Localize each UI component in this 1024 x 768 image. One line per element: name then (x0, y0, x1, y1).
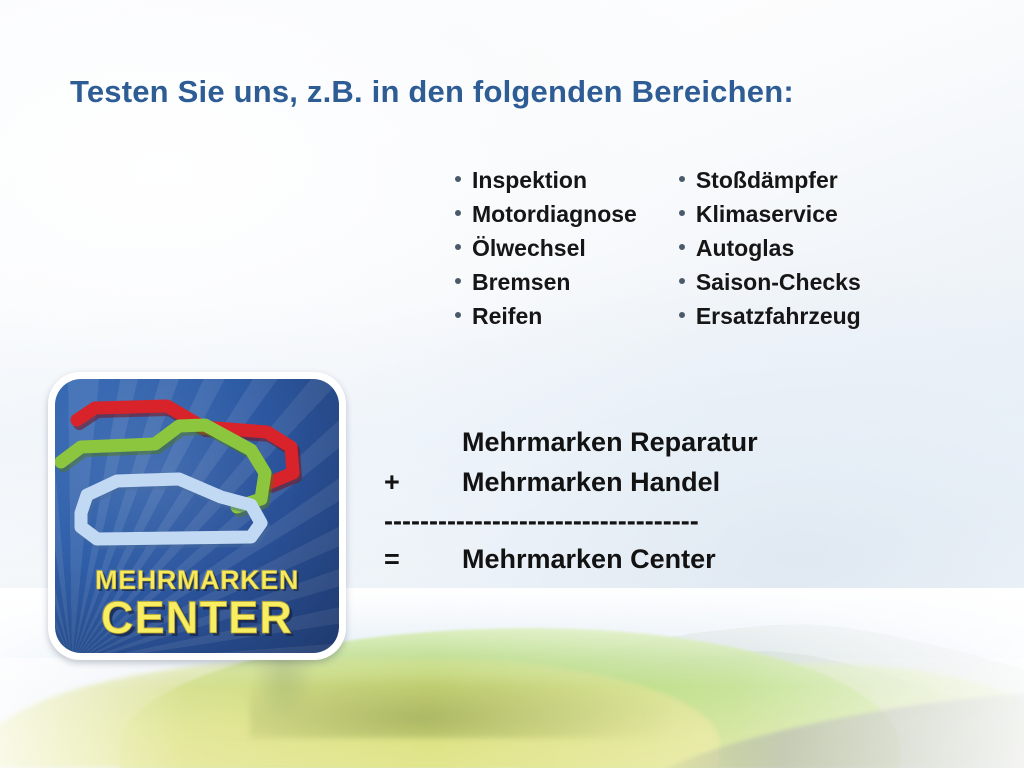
list-item: Saison-Checks (679, 265, 861, 299)
logo-word-top: MEHRMARKEN (55, 567, 339, 595)
list-item: Inspektion (455, 163, 637, 197)
slide-canvas: Testen Sie uns, z.B. in den folgenden Be… (0, 0, 1024, 768)
list-item-label: Ölwechsel (472, 231, 586, 265)
list-item-label: Stoßdämpfer (696, 163, 838, 197)
equation-text-2: Mehrmarken Handel (462, 467, 720, 498)
bullet-dot-icon (455, 312, 461, 318)
list-item-label: Saison-Checks (696, 265, 861, 299)
list-item: Bremsen (455, 265, 637, 299)
bullet-dot-icon (679, 244, 685, 250)
equation-text-1: Mehrmarken Reparatur (462, 427, 758, 458)
list-item: Autoglas (679, 231, 861, 265)
list-item-label: Klimaservice (696, 197, 838, 231)
bullet-dot-icon (679, 210, 685, 216)
bullet-dot-icon (455, 210, 461, 216)
list-item-label: Reifen (472, 299, 542, 333)
list-item-label: Inspektion (472, 163, 587, 197)
page-title: Testen Sie uns, z.B. in den folgenden Be… (70, 74, 794, 110)
services-column-left: Inspektion Motordiagnose Ölwechsel Brems… (455, 163, 637, 333)
services-lists: Inspektion Motordiagnose Ölwechsel Brems… (455, 163, 861, 333)
equation-operator-3: = (384, 544, 462, 575)
list-item-label: Bremsen (472, 265, 570, 299)
list-item: Motordiagnose (455, 197, 637, 231)
list-item: Klimaservice (679, 197, 861, 231)
logo-car-trio-icon (55, 387, 339, 559)
equation-row-1: Mehrmarken Reparatur (384, 427, 944, 458)
bullet-dot-icon (679, 312, 685, 318)
equation-row-2: + Mehrmarken Handel (384, 467, 944, 498)
equation-row-3: = Mehrmarken Center (384, 544, 944, 575)
equation-text-3: Mehrmarken Center (462, 544, 716, 575)
bullet-dot-icon (679, 278, 685, 284)
list-item-label: Ersatzfahrzeug (696, 299, 861, 333)
services-column-right: Stoßdämpfer Klimaservice Autoglas Saison… (679, 163, 861, 333)
list-item: Stoßdämpfer (679, 163, 861, 197)
bullet-dot-icon (455, 278, 461, 284)
logo-panel: MEHRMARKEN CENTER (55, 379, 339, 653)
logo-wordmark: MEHRMARKEN CENTER (55, 567, 339, 641)
list-item-label: Autoglas (696, 231, 794, 265)
list-item: Ölwechsel (455, 231, 637, 265)
list-item: Ersatzfahrzeug (679, 299, 861, 333)
equation-block: Mehrmarken Reparatur + Mehrmarken Handel… (384, 427, 944, 575)
equation-operator-2: + (384, 467, 462, 498)
list-item-label: Motordiagnose (472, 197, 637, 231)
bullet-dot-icon (455, 244, 461, 250)
equation-divider: ----------------------------------- (384, 502, 884, 540)
mehrmarken-center-logo: MEHRMARKEN CENTER (48, 372, 346, 660)
logo-word-bottom: CENTER (55, 595, 339, 641)
bullet-dot-icon (455, 176, 461, 182)
list-item: Reifen (455, 299, 637, 333)
bullet-dot-icon (679, 176, 685, 182)
